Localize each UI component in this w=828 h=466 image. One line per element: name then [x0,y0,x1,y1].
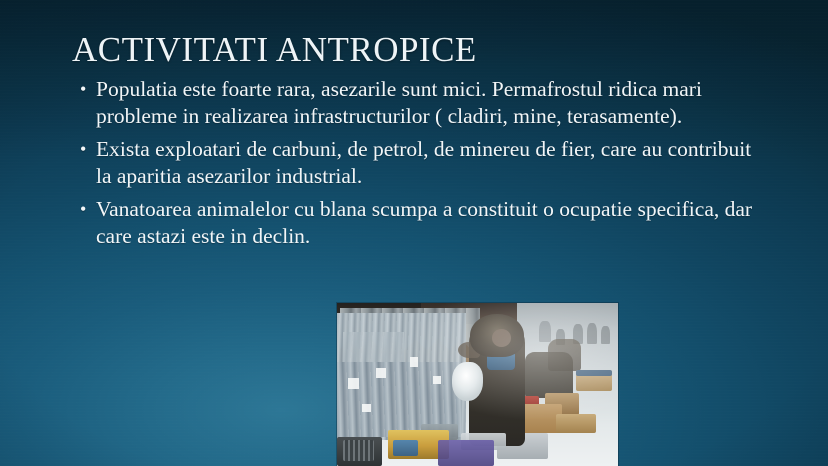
photo-person-face [492,329,512,347]
slide-title: Activitati antropice [72,28,772,72]
presentation-slide: Activitati antropice • Populatia este fo… [0,0,828,466]
slide-body: • Populatia este foarte rara, asezarile … [78,76,758,256]
list-item: • Vanatoarea animalelor cu blana scumpa … [78,196,758,249]
photo-price-tag [362,404,370,412]
photo-price-tag [433,376,441,384]
photo-distant-figure [539,321,550,342]
photo-distant-figure [587,323,597,344]
bullet-icon: • [80,136,86,163]
photo-goods-sack [525,352,573,398]
photo-crate [438,440,494,466]
photo-crate [393,440,418,456]
photo-cardboard-box-label [576,370,613,377]
photo-price-tag [410,357,418,367]
list-item-text: Populatia este foarte rara, asezarile su… [96,77,702,128]
slide-photo-frozen-fish-market [337,303,618,466]
photo-white-bag [452,362,483,401]
list-item-text: Exista exploatari de carbuni, de petrol,… [96,137,751,188]
bullet-icon: • [80,196,86,223]
photo-price-tag [348,378,359,389]
photo-cardboard-box [556,414,595,434]
photo-crate-grid [343,440,374,461]
bullet-icon: • [80,76,86,103]
photo-price-tag [376,368,386,378]
photo-distant-figure [601,326,609,344]
list-item-text: Vanatoarea animalelor cu blana scumpa a … [96,197,752,248]
list-item: • Populatia este foarte rara, asezarile … [78,76,758,129]
list-item: • Exista exploatari de carbuni, de petro… [78,136,758,189]
